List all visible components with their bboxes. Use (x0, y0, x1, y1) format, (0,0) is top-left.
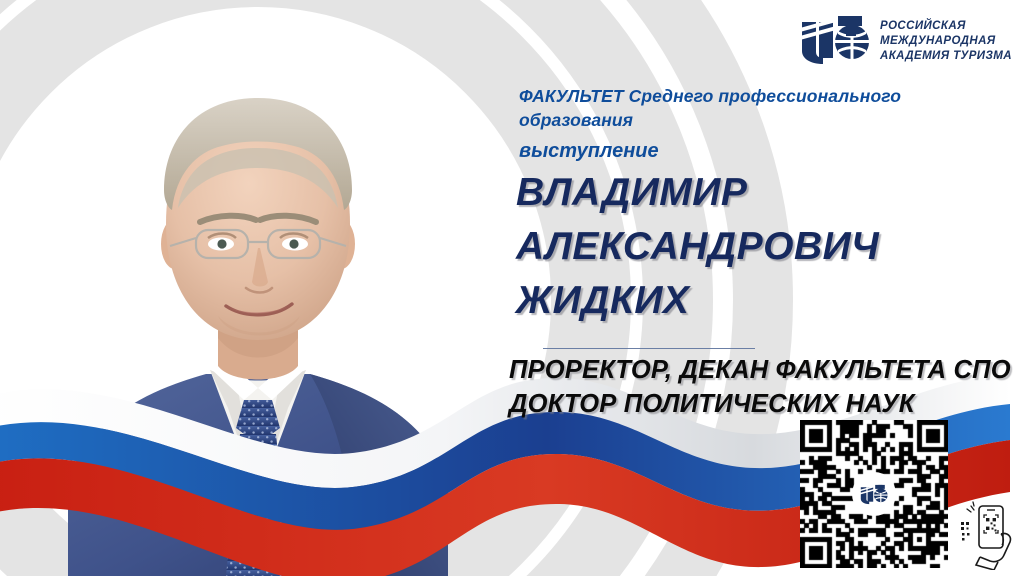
logo-line-3: АКАДЕМИЯ ТУРИЗМА (880, 50, 1012, 63)
portrait-hair (164, 98, 352, 210)
speaker-portrait (58, 48, 458, 576)
event-word: выступление (519, 139, 659, 163)
decor-white-halo (0, 42, 516, 558)
rmat-monogram-logo-icon (800, 14, 870, 66)
logo-line-2: МЕЖДУНАРОДНАЯ (880, 35, 1012, 48)
speaker-name-line-1: ВЛАДИМИР (516, 166, 1016, 220)
hand-holding-phone-scanning-qr-icon (960, 500, 1018, 570)
qr-code[interactable] (800, 420, 948, 568)
portrait-shirt (210, 370, 306, 498)
portrait-face (166, 110, 350, 340)
portrait-suit (68, 374, 448, 576)
speaker-title-line-1: ПРОРЕКТОР, ДЕКАН ФАКУЛЬТЕТА СПО (509, 353, 1024, 387)
speaker-name-line-3: ЖИДКИХ (516, 274, 1016, 328)
faculty-line: ФАКУЛЬТЕТ Среднего профессионального обр… (519, 84, 949, 132)
rmat-logo-text: РОССИЙСКАЯ МЕЖДУНАРОДНАЯ АКАДЕМИЯ ТУРИЗМ… (880, 18, 1012, 63)
speaker-name: ВЛАДИМИР АЛЕКСАНДРОВИЧ ЖИДКИХ (516, 166, 1016, 328)
faculty-text: ФАКУЛЬТЕТ Среднего профессионального обр… (519, 86, 901, 130)
speaker-title: ПРОРЕКТОР, ДЕКАН ФАКУЛЬТЕТА СПО ДОКТОР П… (509, 353, 1024, 421)
presentation-slide: РОССИЙСКАЯ МЕЖДУНАРОДНАЯ АКАДЕМИЯ ТУРИЗМ… (0, 0, 1024, 576)
logo-line-1: РОССИЙСКАЯ (880, 20, 1012, 33)
speaker-name-line-2: АЛЕКСАНДРОВИЧ (516, 220, 1016, 274)
portrait-glasses (170, 230, 346, 258)
rmat-monogram-logo-icon-small (860, 484, 888, 505)
rmat-logo-block: РОССИЙСКАЯ МЕЖДУНАРОДНАЯ АКАДЕМИЯ ТУРИЗМ… (800, 14, 1012, 66)
speaker-title-line-2: ДОКТОР ПОЛИТИЧЕСКИХ НАУК (509, 387, 1024, 421)
portrait-tie (236, 400, 280, 444)
title-divider (543, 348, 755, 349)
qr-center-logo (852, 472, 896, 516)
